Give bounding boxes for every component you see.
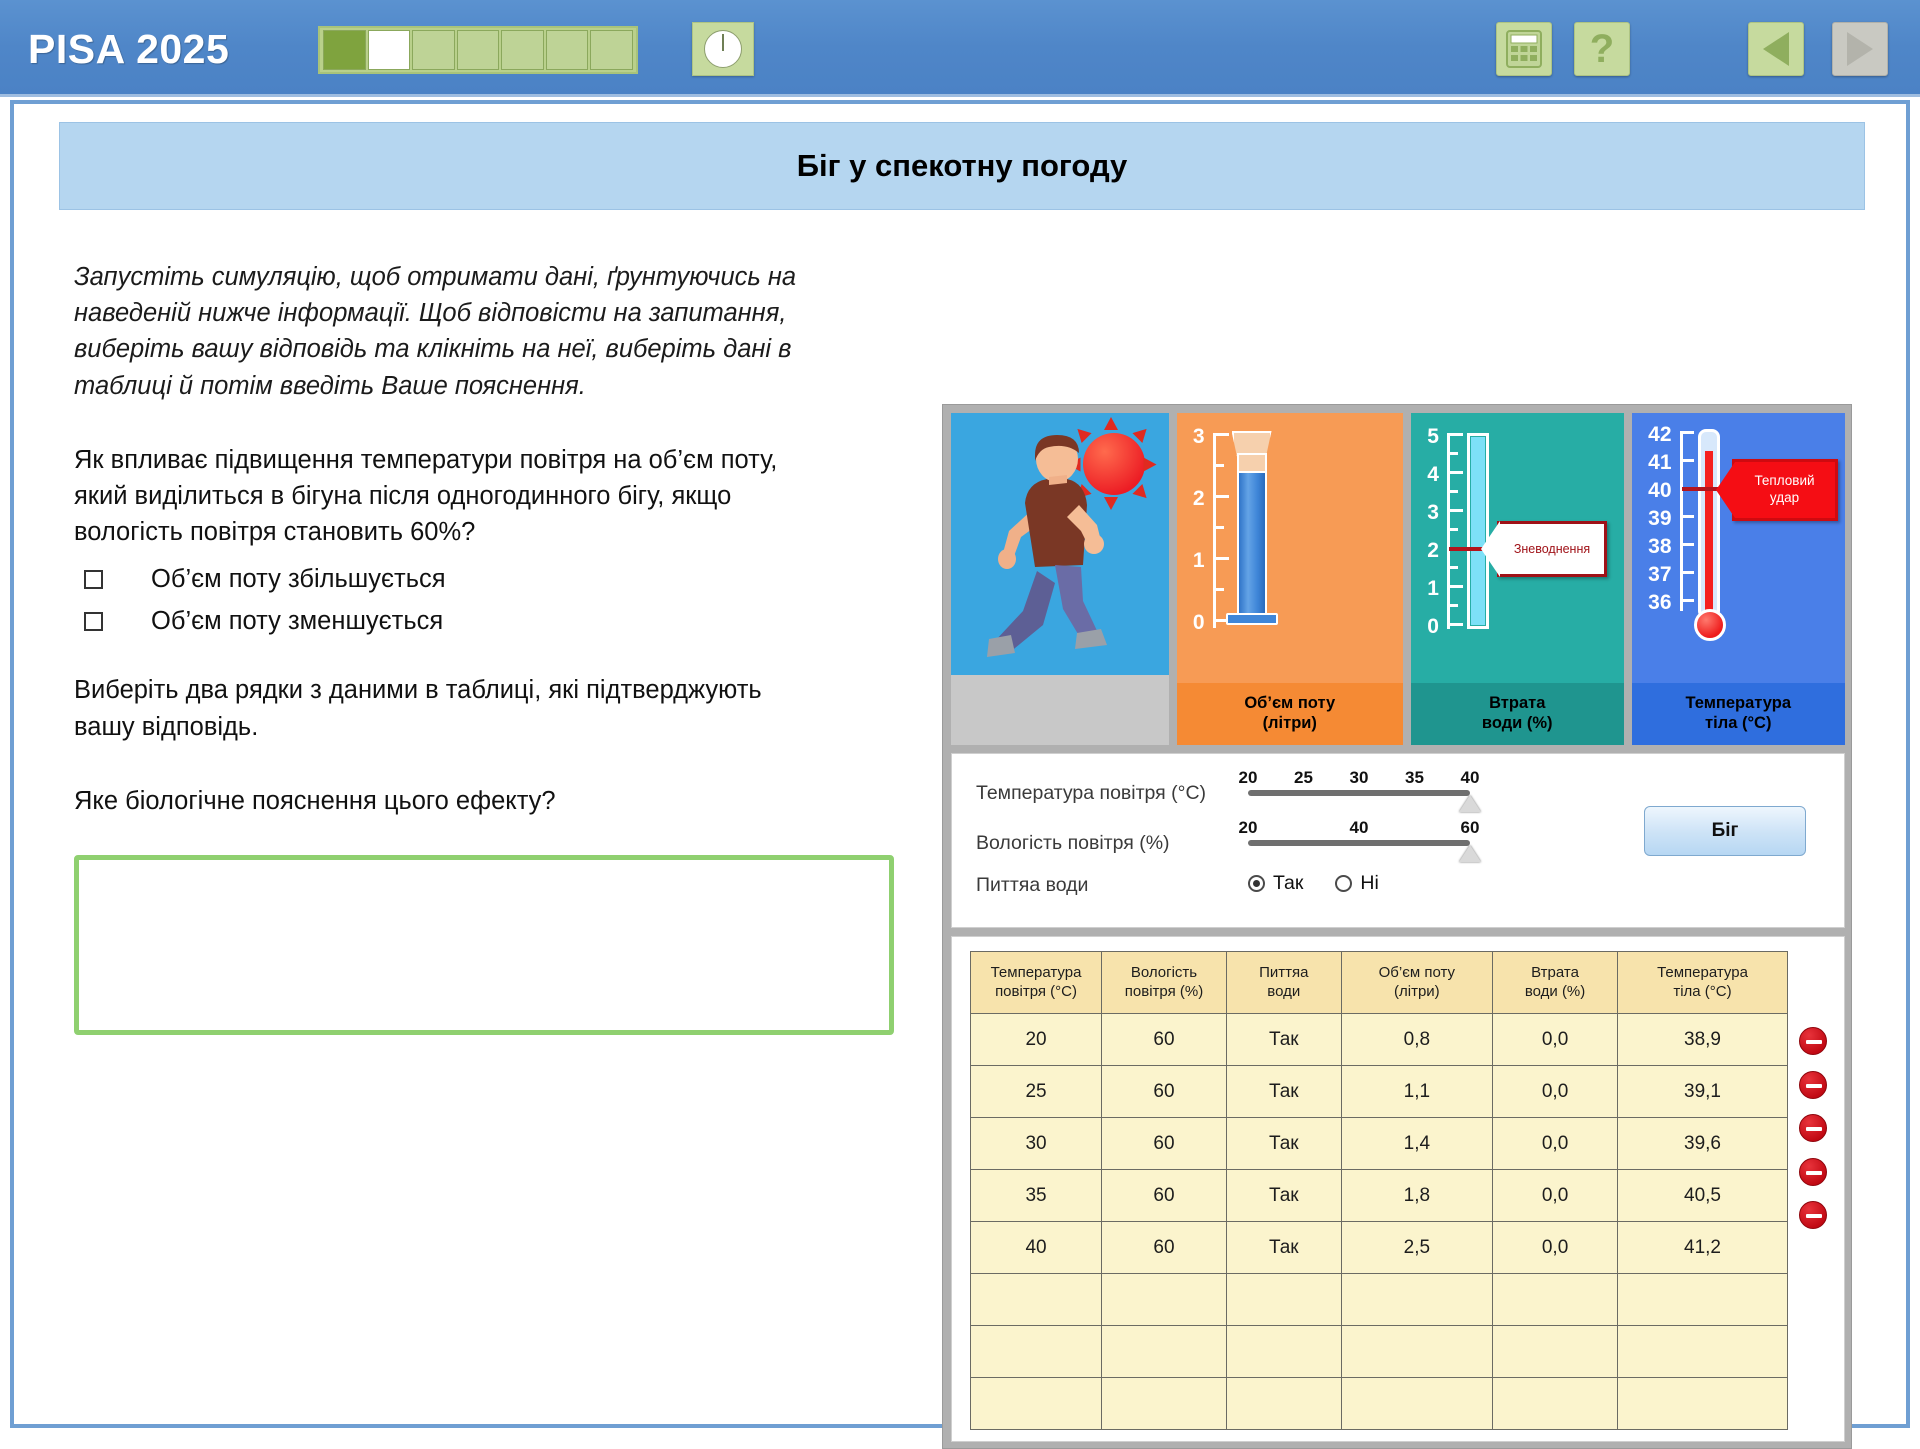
water-scale-3: 3 — [1417, 501, 1439, 525]
progress-segment-5 — [501, 30, 544, 70]
next-button[interactable] — [1832, 22, 1888, 76]
delete-row-button[interactable] — [1799, 1071, 1827, 1099]
heatstroke-flag-label-2: удар — [1770, 490, 1799, 507]
calculator-button[interactable] — [1496, 22, 1552, 76]
simulation-controls: Температура повітря (°C) 20 25 30 35 40 … — [951, 753, 1845, 928]
application-root: PISA 2025 — [0, 0, 1920, 1438]
calculator-icon — [1506, 30, 1542, 68]
air-temperature-label: Температура повітря (°C) — [976, 782, 1206, 805]
air-humidity-label: Вологість повітря (%) — [976, 832, 1170, 855]
water-scale-4: 4 — [1417, 463, 1439, 487]
header-air-humidity: Вологість повітря (%) — [1102, 952, 1227, 1014]
temp-scale-41: 41 — [1636, 451, 1672, 475]
table-row-empty — [971, 1326, 1788, 1378]
radio-option-no[interactable]: Ні — [1335, 872, 1378, 895]
water-scale-2: 2 — [1417, 539, 1439, 563]
thermometer-mercury — [1705, 451, 1713, 619]
title-banner: Біг у спекотну погоду — [59, 122, 1865, 210]
runner-scene-panel — [951, 413, 1169, 745]
progress-segment-1 — [323, 30, 366, 70]
option-row-increase[interactable]: Об’єм поту збільшується — [74, 558, 894, 600]
progress-segment-4 — [457, 30, 500, 70]
help-button[interactable]: ? — [1574, 22, 1630, 76]
delete-row-button[interactable] — [1799, 1201, 1827, 1229]
content-frame: Біг у спекотну погоду Запустіть симуляці… — [10, 100, 1910, 1428]
radio-yes[interactable] — [1248, 875, 1265, 892]
water-loss-panel: 5 4 3 2 1 0 — [1411, 413, 1624, 745]
run-simulation-button[interactable]: Біг — [1644, 806, 1806, 856]
question-mark-icon: ? — [1590, 29, 1614, 69]
forward-arrow-icon — [1847, 32, 1873, 66]
water-scale-5: 5 — [1417, 425, 1439, 449]
results-table-area: Температура повітря (°C) Вологість повіт… — [951, 936, 1845, 1442]
air-temperature-thumb[interactable] — [1459, 795, 1481, 812]
simulation-panels: 3 2 1 0 Об’єм п — [951, 413, 1845, 745]
radio-yes-label: Так — [1273, 872, 1303, 895]
table-row[interactable]: 35 60 Так 1,8 0,0 40,5 — [971, 1170, 1788, 1222]
temp-scale-42: 42 — [1636, 423, 1672, 447]
option-label-decrease: Об’єм поту зменшується — [151, 607, 443, 636]
results-table: Температура повітря (°C) Вологість повіт… — [970, 951, 1788, 1430]
question-text: Як впливає підвищення температури повітр… — [74, 442, 834, 551]
table-row[interactable]: 20 60 Так 0,8 0,0 38,9 — [971, 1014, 1788, 1066]
top-toolbar: PISA 2025 — [0, 0, 1920, 97]
water-scale-1: 1 — [1417, 577, 1439, 601]
temp-scale-39: 39 — [1636, 507, 1672, 531]
delete-row-button[interactable] — [1799, 1114, 1827, 1142]
air-temperature-ticks: 20 25 30 35 40 — [1248, 768, 1470, 788]
temp-scale-38: 38 — [1636, 535, 1672, 559]
ground — [951, 675, 1169, 745]
table-row-empty — [971, 1274, 1788, 1326]
sweat-volume-panel: 3 2 1 0 Об’єм п — [1177, 413, 1403, 745]
table-row[interactable]: 30 60 Так 1,4 0,0 39,6 — [971, 1118, 1788, 1170]
delete-buttons-column — [1799, 1027, 1839, 1245]
explanation-textarea[interactable] — [74, 855, 894, 1035]
sweat-scale-3: 3 — [1185, 425, 1205, 449]
previous-button[interactable] — [1748, 22, 1804, 76]
delete-row-button[interactable] — [1799, 1158, 1827, 1186]
select-rows-prompt: Виберіть два рядки з даними в таблиці, я… — [74, 672, 774, 744]
simulation-container: 3 2 1 0 Об’єм п — [942, 404, 1852, 1449]
delete-row-button[interactable] — [1799, 1027, 1827, 1055]
header-body-temperature: Температура тіла (°C) — [1618, 952, 1788, 1014]
air-humidity-ticks: 20 40 60 — [1248, 818, 1470, 838]
clock-icon — [704, 30, 742, 68]
header-sweat-volume: Об’єм поту (літри) — [1341, 952, 1493, 1014]
heatstroke-flag: Тепловий удар — [1732, 459, 1838, 521]
page-title: Біг у спекотну погоду — [797, 148, 1128, 184]
table-row-empty — [971, 1378, 1788, 1430]
progress-segment-6 — [546, 30, 589, 70]
option-label-increase: Об’єм поту збільшується — [151, 565, 446, 594]
temp-scale-36: 36 — [1636, 591, 1672, 615]
left-column: Запустіть симуляцію, щоб отримати дані, … — [74, 259, 894, 1035]
sweat-volume-caption: Об’єм поту (літри) — [1177, 683, 1403, 745]
heatstroke-flag-label-1: Тепловий — [1754, 473, 1814, 490]
water-drinking-radios: Так Ні — [1248, 872, 1379, 895]
thermometer-bulb — [1694, 609, 1726, 641]
back-arrow-icon — [1763, 32, 1789, 66]
app-brand-title: PISA 2025 — [28, 26, 229, 73]
water-drinking-label: Питтяa води — [976, 874, 1088, 897]
instructions-text: Запустіть симуляцію, щоб отримати дані, … — [74, 259, 874, 404]
table-row[interactable]: 25 60 Так 1,1 0,0 39,1 — [971, 1066, 1788, 1118]
timer-button[interactable] — [692, 22, 754, 76]
temp-scale-37: 37 — [1636, 563, 1672, 587]
cylinder-base — [1226, 613, 1278, 625]
option-row-decrease[interactable]: Об’єм поту зменшується — [74, 600, 894, 642]
water-scale-0: 0 — [1417, 615, 1439, 639]
table-header-row: Температура повітря (°C) Вологість повіт… — [971, 952, 1788, 1014]
radio-no-label: Ні — [1360, 872, 1378, 895]
checkbox-increase[interactable] — [84, 570, 103, 589]
dehydration-flag-label: Зневоднення — [1514, 542, 1590, 556]
progress-segment-2-current — [368, 30, 411, 70]
radio-option-yes[interactable]: Так — [1248, 872, 1303, 895]
explanation-prompt: Яке біологічне пояснення цього ефекту? — [74, 783, 894, 819]
header-water-drinking: Питтяa води — [1226, 952, 1341, 1014]
answer-options: Об’єм поту збільшується Об’єм поту зменш… — [74, 558, 894, 642]
sweat-scale-2: 2 — [1185, 487, 1205, 511]
water-loss-caption: Втрата води (%) — [1411, 683, 1624, 745]
cylinder-liquid — [1237, 471, 1267, 621]
sweat-scale-1: 1 — [1185, 549, 1205, 573]
radio-no[interactable] — [1335, 875, 1352, 892]
header-water-loss: Втрата води (%) — [1493, 952, 1618, 1014]
table-row[interactable]: 40 60 Так 2,5 0,0 41,2 — [971, 1222, 1788, 1274]
body-temperature-panel: 42 41 40 39 38 37 36 — [1632, 413, 1846, 745]
air-humidity-thumb[interactable] — [1459, 845, 1481, 862]
header-air-temperature: Температура повітря (°C) — [971, 952, 1102, 1014]
body-temperature-caption: Температура тіла (°C) — [1632, 683, 1846, 745]
progress-segment-7 — [590, 30, 633, 70]
checkbox-decrease[interactable] — [84, 612, 103, 631]
sweat-scale-0: 0 — [1185, 611, 1205, 635]
runner-illustration — [951, 413, 1169, 683]
temp-scale-40: 40 — [1636, 479, 1672, 503]
progress-segment-3 — [412, 30, 455, 70]
dehydration-flag: Зневоднення — [1497, 521, 1607, 577]
progress-indicator — [318, 26, 638, 74]
